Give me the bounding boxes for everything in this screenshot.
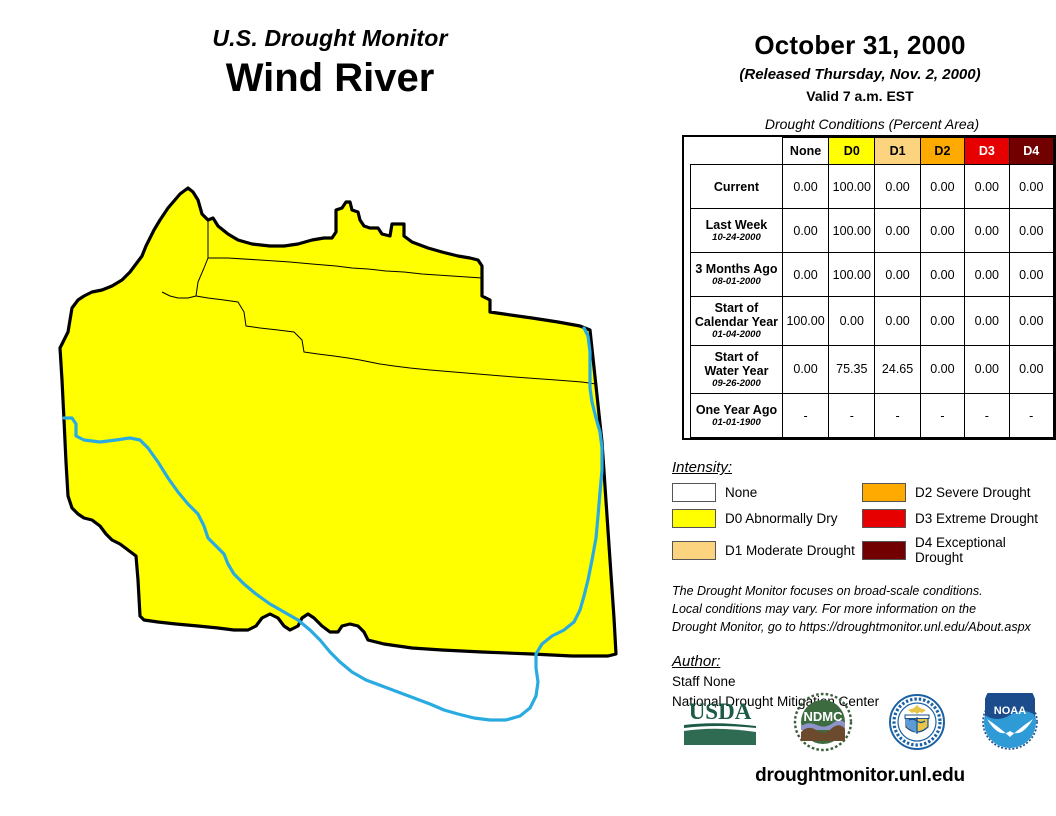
row-label-date: 08-01-2000 — [693, 277, 780, 288]
swatch-d2-icon — [862, 483, 906, 502]
col-header-d1: D1 — [875, 138, 920, 165]
logo-row: USDA NDMC — [664, 686, 1056, 758]
cell-oneyear-none: - — [782, 394, 828, 438]
cell-wateryear-d1: 24.65 — [875, 345, 920, 394]
legend-item-d2: D2 Severe Drought — [862, 483, 1052, 502]
legend-item-d3: D3 Extreme Drought — [862, 509, 1052, 528]
drought-conditions-table: None D0 D1 D2 D3 D4 Current 0.00 100.00 … — [690, 137, 1054, 438]
website-url[interactable]: droughtmonitor.unl.edu — [664, 765, 1056, 787]
cell-wateryear-none: 0.00 — [782, 345, 828, 394]
report-date: October 31, 2000 — [664, 30, 1056, 61]
col-header-none: None — [782, 138, 828, 165]
svg-text:NDMC: NDMC — [803, 709, 843, 724]
legend-item-none: None — [672, 483, 862, 502]
cell-current-d0: 100.00 — [829, 165, 875, 209]
usda-logo: USDA — [682, 695, 758, 749]
cell-calyear-d4: 0.00 — [1009, 297, 1053, 346]
row-label-text: One Year Ago — [693, 403, 780, 417]
row-label-text: 3 Months Ago — [693, 262, 780, 276]
swatch-d1-icon — [672, 541, 716, 560]
cell-calyear-d3: 0.00 — [965, 297, 1009, 346]
legend-item-d0: D0 Abnormally Dry — [672, 509, 862, 528]
row-label-start-water-year: Start of Water Year 09-26-2000 — [691, 345, 783, 394]
intensity-title: Intensity: — [672, 459, 1056, 476]
col-header-d4: D4 — [1009, 138, 1053, 165]
legend-label-d1: D1 Moderate Drought — [725, 543, 855, 558]
row-label-text-2: Water Year — [693, 364, 780, 378]
drought-conditions-table-wrapper: None D0 D1 D2 D3 D4 Current 0.00 100.00 … — [682, 135, 1056, 440]
svg-text:NOAA: NOAA — [993, 705, 1025, 717]
cell-lastweek-d1: 0.00 — [875, 209, 920, 253]
cell-current-none: 0.00 — [782, 165, 828, 209]
cell-calyear-d0: 0.00 — [829, 297, 875, 346]
legend-label-d0: D0 Abnormally Dry — [725, 511, 838, 526]
cell-oneyear-d3: - — [965, 394, 1009, 438]
row-label-last-week: Last Week 10-24-2000 — [691, 209, 783, 253]
row-label-date: 01-04-2000 — [693, 330, 780, 341]
cell-wateryear-d4: 0.00 — [1009, 345, 1053, 394]
cell-lastweek-d2: 0.00 — [920, 209, 964, 253]
author-title: Author: — [672, 653, 1056, 670]
legend-label-d2: D2 Severe Drought — [915, 485, 1031, 500]
table-row: Last Week 10-24-2000 0.00 100.00 0.00 0.… — [691, 209, 1054, 253]
table-header-row: None D0 D1 D2 D3 D4 — [691, 138, 1054, 165]
row-label-start-calendar-year: Start of Calendar Year 01-04-2000 — [691, 297, 783, 346]
ndmc-logo: NDMC — [793, 692, 853, 752]
row-label-text: Last Week — [693, 218, 780, 232]
cell-3months-d0: 100.00 — [829, 253, 875, 297]
map-title-block: U.S. Drought Monitor Wind River — [0, 26, 660, 101]
drought-monitor-page: U.S. Drought Monitor Wind River October … — [0, 0, 1056, 816]
swatch-d4-icon — [862, 541, 906, 560]
swatch-d0-icon — [672, 509, 716, 528]
col-header-d0: D0 — [829, 138, 875, 165]
cell-lastweek-d3: 0.00 — [965, 209, 1009, 253]
cell-calyear-d2: 0.00 — [920, 297, 964, 346]
info-panel: October 31, 2000 (Released Thursday, Nov… — [664, 0, 1056, 816]
disclaimer-text: The Drought Monitor focuses on broad-sca… — [672, 583, 1056, 636]
map-region-shape — [60, 188, 616, 656]
row-label-one-year-ago: One Year Ago 01-01-1900 — [691, 394, 783, 438]
cell-3months-d1: 0.00 — [875, 253, 920, 297]
disclaimer-line-1: The Drought Monitor focuses on broad-sca… — [672, 583, 1056, 601]
cell-lastweek-d0: 100.00 — [829, 209, 875, 253]
disclaimer-line-2: Local conditions may vary. For more info… — [672, 601, 1056, 619]
swatch-none-icon — [672, 483, 716, 502]
row-label-date: 09-26-2000 — [693, 379, 780, 390]
table-corner-cell — [691, 138, 783, 165]
disclaimer-line-3[interactable]: Drought Monitor, go to https://droughtmo… — [672, 619, 1056, 637]
svg-text:USDA: USDA — [688, 699, 751, 724]
cell-3months-d2: 0.00 — [920, 253, 964, 297]
drought-map[interactable] — [12, 140, 662, 780]
noaa-logo: NOAA — [981, 693, 1039, 751]
legend-label-d4: D4 Exceptional Drought — [915, 535, 1052, 565]
cell-lastweek-none: 0.00 — [782, 209, 828, 253]
table-row: Current 0.00 100.00 0.00 0.00 0.00 0.00 — [691, 165, 1054, 209]
table-row: Start of Water Year 09-26-2000 0.00 75.3… — [691, 345, 1054, 394]
row-label-date: 01-01-1900 — [693, 418, 780, 429]
row-label-text: Current — [693, 180, 780, 194]
cell-oneyear-d2: - — [920, 394, 964, 438]
region-title: Wind River — [0, 55, 660, 101]
row-label-text: Start of — [693, 350, 780, 364]
intensity-legend: Intensity: None D2 Severe Drought D0 Abn… — [672, 459, 1056, 565]
cell-lastweek-d4: 0.00 — [1009, 209, 1053, 253]
cell-current-d4: 0.00 — [1009, 165, 1053, 209]
cell-oneyear-d4: - — [1009, 394, 1053, 438]
cell-calyear-d1: 0.00 — [875, 297, 920, 346]
commerce-seal-logo — [888, 693, 946, 751]
col-header-d2: D2 — [920, 138, 964, 165]
row-label-text-2: Calendar Year — [693, 315, 780, 329]
cell-oneyear-d0: - — [829, 394, 875, 438]
valid-time: Valid 7 a.m. EST — [664, 88, 1056, 104]
cell-oneyear-d1: - — [875, 394, 920, 438]
legend-label-d3: D3 Extreme Drought — [915, 511, 1038, 526]
row-label-3-months-ago: 3 Months Ago 08-01-2000 — [691, 253, 783, 297]
table-caption: Drought Conditions (Percent Area) — [664, 116, 1056, 132]
cell-current-d2: 0.00 — [920, 165, 964, 209]
release-date: (Released Thursday, Nov. 2, 2000) — [664, 66, 1056, 83]
cell-current-d3: 0.00 — [965, 165, 1009, 209]
cell-calyear-none: 100.00 — [782, 297, 828, 346]
row-label-text: Start of — [693, 301, 780, 315]
cell-3months-d3: 0.00 — [965, 253, 1009, 297]
cell-3months-none: 0.00 — [782, 253, 828, 297]
program-title: U.S. Drought Monitor — [0, 26, 660, 51]
row-label-current: Current — [691, 165, 783, 209]
region-fill-d0 — [60, 188, 616, 656]
cell-current-d1: 0.00 — [875, 165, 920, 209]
cell-wateryear-d0: 75.35 — [829, 345, 875, 394]
legend-item-d1: D1 Moderate Drought — [672, 535, 862, 565]
table-row: One Year Ago 01-01-1900 - - - - - - — [691, 394, 1054, 438]
date-block: October 31, 2000 (Released Thursday, Nov… — [664, 0, 1056, 104]
col-header-d3: D3 — [965, 138, 1009, 165]
table-row: Start of Calendar Year 01-04-2000 100.00… — [691, 297, 1054, 346]
cell-wateryear-d3: 0.00 — [965, 345, 1009, 394]
legend-label-none: None — [725, 485, 757, 500]
legend-item-d4: D4 Exceptional Drought — [862, 535, 1052, 565]
cell-wateryear-d2: 0.00 — [920, 345, 964, 394]
swatch-d3-icon — [862, 509, 906, 528]
row-label-date: 10-24-2000 — [693, 233, 780, 244]
table-row: 3 Months Ago 08-01-2000 0.00 100.00 0.00… — [691, 253, 1054, 297]
cell-3months-d4: 0.00 — [1009, 253, 1053, 297]
